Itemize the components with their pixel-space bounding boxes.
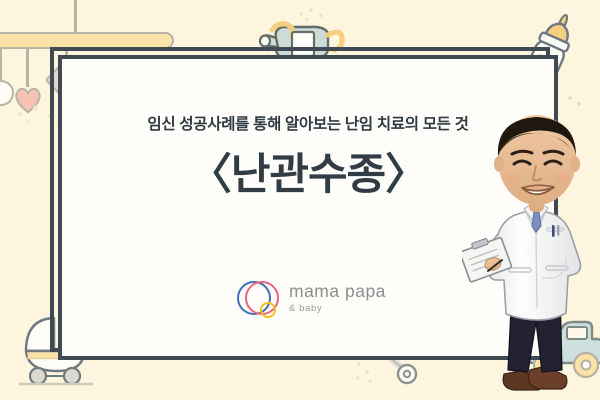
promo-banner: 임신 성공사례를 통해 알아보는 난임 치료의 모든 것 〈난관수종〉 mama… xyxy=(0,0,600,400)
logo-text-block: mama papa & baby xyxy=(289,282,386,314)
mobile-circle-icon xyxy=(0,80,14,106)
logo-tagline: & baby xyxy=(289,303,386,314)
logo-rings-icon xyxy=(236,279,286,325)
heart-icon xyxy=(13,85,43,115)
logo-ring-yellow xyxy=(260,302,276,318)
logo-name: mama papa xyxy=(289,282,386,301)
brand-logo: mama papa & baby xyxy=(236,277,396,325)
doctor-photo xyxy=(462,108,600,400)
